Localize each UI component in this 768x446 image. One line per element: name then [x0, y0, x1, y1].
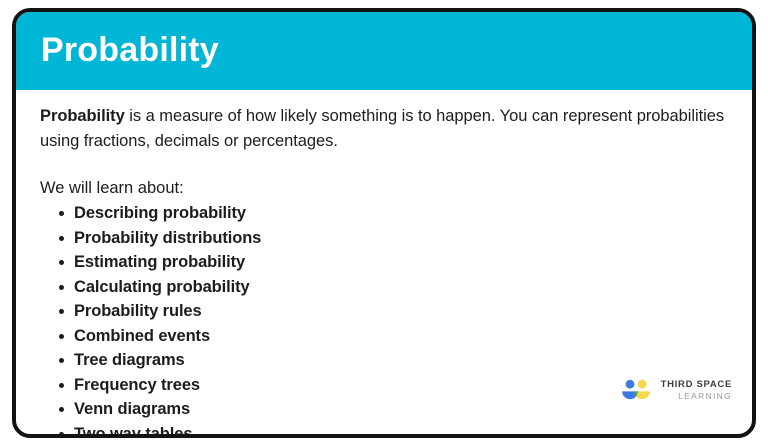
list-item-label: Estimating probability — [74, 253, 245, 271]
intro-paragraph: Probability is a measure of how likely s… — [40, 104, 734, 154]
topics-list: Describing probability Probability distr… — [40, 201, 734, 438]
card-header: Probability — [16, 12, 752, 90]
list-item: Probability distributions — [40, 226, 734, 251]
brand-logo: THIRD SPACE LEARNING — [618, 379, 732, 402]
bullet-dot-icon — [59, 309, 64, 314]
list-item-label: Combined events — [74, 327, 210, 345]
logo-wordmark: THIRD SPACE LEARNING — [661, 380, 732, 401]
list-item: Calculating probability — [40, 275, 734, 300]
bullet-dot-icon — [59, 285, 64, 290]
lesson-card: Probability Probability is a measure of … — [12, 8, 756, 438]
list-item-label: Frequency trees — [74, 376, 200, 394]
list-item: Estimating probability — [40, 250, 734, 275]
list-item: Describing probability — [40, 201, 734, 226]
list-item-label: Venn diagrams — [74, 400, 190, 418]
list-item: Combined events — [40, 324, 734, 349]
bullet-dot-icon — [59, 432, 64, 437]
logo-line-2: LEARNING — [661, 392, 732, 401]
bullet-dot-icon — [59, 260, 64, 265]
list-item-label: Probability rules — [74, 302, 202, 320]
bullet-dot-icon — [59, 358, 64, 363]
bullet-dot-icon — [59, 211, 64, 216]
logo-line-1: THIRD SPACE — [661, 380, 732, 390]
list-item-label: Describing probability — [74, 204, 246, 222]
intro-lead-term: Probability — [40, 107, 125, 125]
third-space-learning-logo-icon — [618, 379, 654, 402]
page-title: Probability — [41, 33, 219, 69]
list-item: Tree diagrams — [40, 348, 734, 373]
learn-about-label: We will learn about: — [40, 176, 734, 201]
list-item-label: Two way tables — [74, 425, 192, 439]
list-item: Probability rules — [40, 299, 734, 324]
list-item-label: Probability distributions — [74, 229, 261, 247]
list-item-label: Tree diagrams — [74, 351, 185, 369]
bullet-dot-icon — [59, 383, 64, 388]
bullet-dot-icon — [59, 334, 64, 339]
bullet-dot-icon — [59, 407, 64, 412]
list-item-label: Calculating probability — [74, 278, 250, 296]
card-body: Probability is a measure of how likely s… — [16, 90, 752, 434]
bullet-dot-icon — [59, 236, 64, 241]
intro-rest-text: is a measure of how likely something is … — [40, 107, 724, 150]
list-item: Two way tables — [40, 422, 734, 439]
